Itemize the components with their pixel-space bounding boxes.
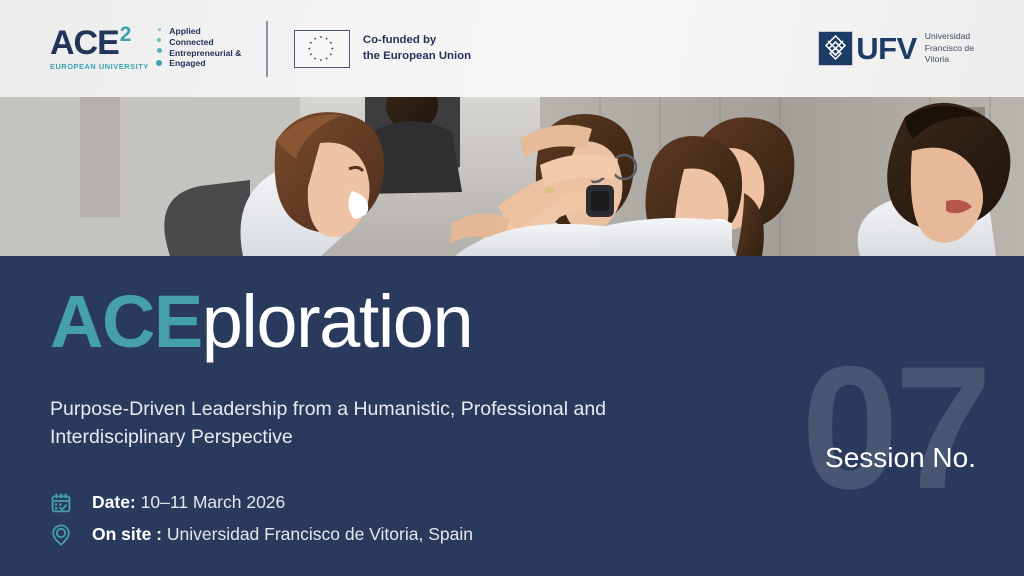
eu-star-icon [331,47,334,50]
meta-date-label: Date: [92,492,136,512]
eu-flag-icon [294,30,350,68]
ace2-value-entrepreneurial: Entrepreneurial & [169,49,241,58]
meta-row-location: On site : Universidad Francisco de Vitor… [50,524,750,546]
meta-location-label: On site : [92,524,162,544]
session-badge: 07 Session No. [714,256,1024,576]
hero-photo-svg [0,97,1024,256]
main-content: ACEploration Purpose-Driven Leadership f… [50,256,750,556]
session-label: Session No. [825,442,976,474]
header-divider [266,21,268,77]
page-title-accent: ACE [50,280,202,363]
ace2-value-engaged: Engaged [169,59,241,68]
meta-location-text: On site : Universidad Francisco de Vitor… [92,524,473,545]
ace2-value-list: Applied Connected Entrepreneurial & Enga… [169,26,241,68]
event-meta: Date: 10–11 March 2026 On site : Univers… [50,492,750,546]
session-number: 07 [801,359,988,499]
ufv-name-line3: Vitoria [925,54,974,65]
ace2-value-applied: Applied [169,27,241,36]
ace2-dot-icon [157,48,162,53]
ace2-dot-icon [158,28,161,31]
ufv-logo: UFV Universidad Francisco de Vitoria [818,31,1024,66]
ufv-full-name: Universidad Francisco de Vitoria [925,31,974,65]
meta-location-value: Universidad Francisco de Vitoria, Spain [162,524,473,544]
eu-funding-text: Co-funded by the European Union [363,33,471,63]
eu-star-icon [319,59,322,62]
eu-star-icon [329,41,332,44]
ufv-pinwheel-svg [819,32,852,65]
eu-funding-logo: Co-funded by the European Union [294,30,471,68]
eu-star-icon [314,57,317,60]
ufv-pinwheel-icon [818,31,853,66]
ace2-superscript-two: 2 [120,24,132,45]
eu-star-icon [319,36,322,39]
main-panel: 07 Session No. ACEploration Purpose-Driv… [0,256,1024,576]
ace2-wordmark: ACE 2 [50,26,149,60]
ace2-value-connected: Connected [169,38,241,47]
ufv-wordmark: UFV [856,33,917,64]
eu-star-icon [325,57,328,60]
ace2-dot-icon [157,38,161,42]
ufv-name-line1: Universidad [925,31,974,42]
calendar-icon [50,492,72,514]
location-pin-icon-svg [51,524,71,546]
calendar-icon-svg [51,493,71,513]
page-title-rest: ploration [202,280,472,363]
page-subtitle-line2: Interdisciplinary Perspective [50,423,710,451]
ace2-dot-column [156,26,163,66]
page-title: ACEploration [50,285,750,359]
eu-star-icon [314,37,317,40]
session-poster: ACE 2 EUROPEAN UNIVERSITY Applied Connec… [0,0,1024,576]
ace2-dot-icon [156,60,163,67]
ace2-word-ace: ACE [50,26,119,60]
eu-funding-line1: Co-funded by [363,33,471,48]
meta-date-text: Date: 10–11 March 2026 [92,492,285,513]
eu-star-icon [329,53,332,56]
eu-star-icon [309,41,312,44]
meta-date-value: 10–11 March 2026 [136,492,286,512]
ace2-wordmark-block: ACE 2 EUROPEAN UNIVERSITY [50,26,149,71]
eu-star-icon [308,47,311,50]
location-pin-icon [50,524,72,546]
header-left-logos: ACE 2 EUROPEAN UNIVERSITY Applied Connec… [0,21,471,77]
page-subtitle-line1: Purpose-Driven Leadership from a Humanis… [50,395,710,423]
eu-funding-line2: the European Union [363,49,471,64]
meta-row-date: Date: 10–11 March 2026 [50,492,750,514]
ace2-tagline: EUROPEAN UNIVERSITY [50,62,149,71]
poster-header: ACE 2 EUROPEAN UNIVERSITY Applied Connec… [0,0,1024,97]
eu-star-icon [325,37,328,40]
eu-star-icon [309,53,312,56]
page-subtitle: Purpose-Driven Leadership from a Humanis… [50,395,710,452]
hero-photo [0,97,1024,256]
ace2-logo: ACE 2 EUROPEAN UNIVERSITY Applied Connec… [50,26,241,71]
ufv-name-line2: Francisco de [925,43,974,54]
